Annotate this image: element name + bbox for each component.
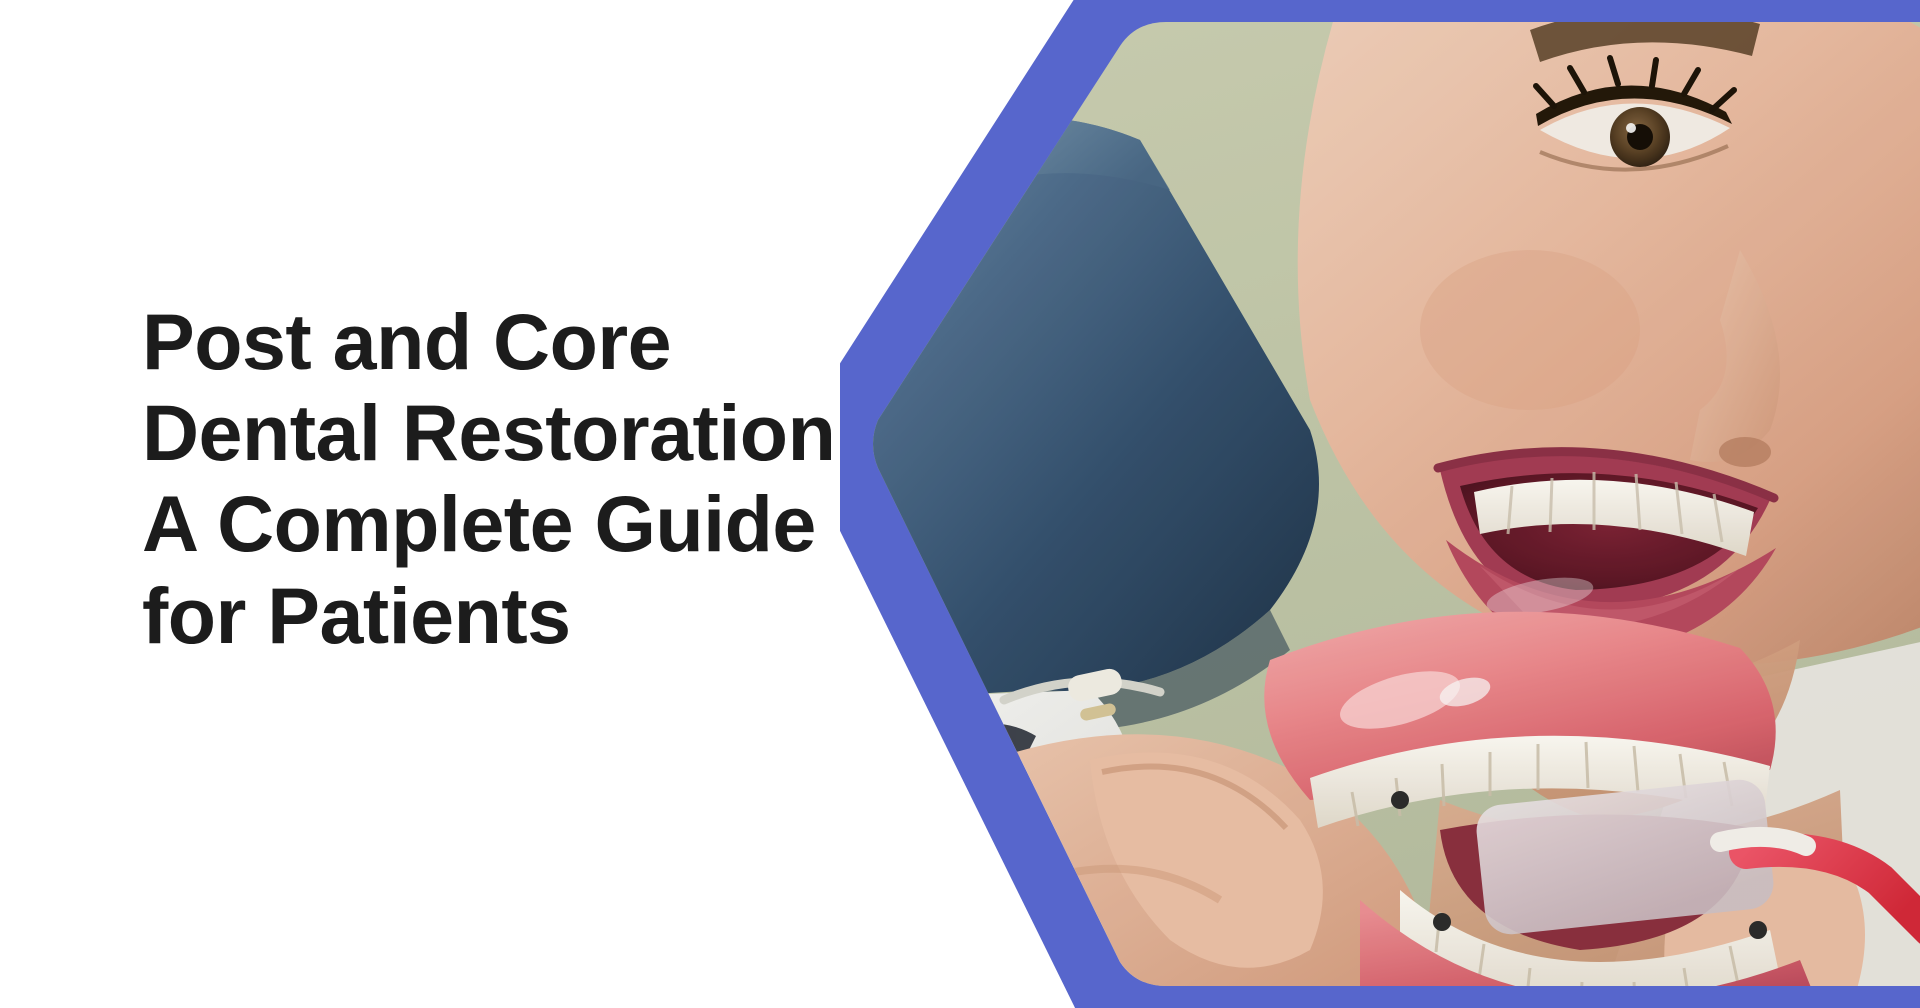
article-hero-banner: Post and Core Dental Restoration: A Comp… [0,0,1920,1008]
hero-graphic [840,0,1920,1008]
chevron-photo-composition [840,0,1920,1008]
